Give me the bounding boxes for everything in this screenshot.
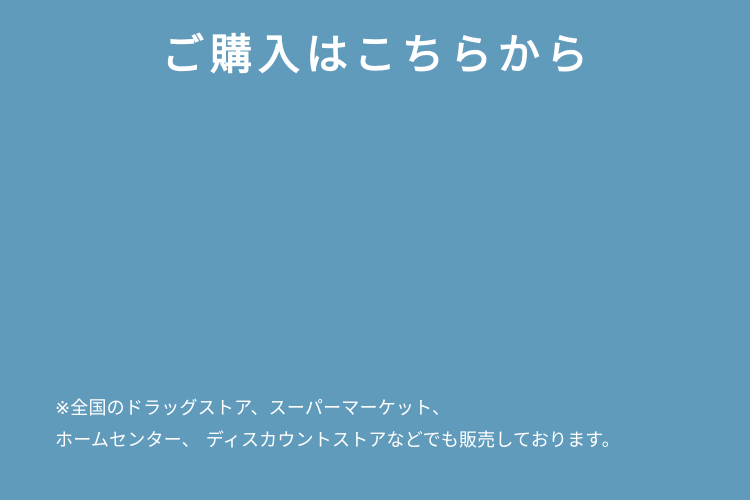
purchase-banner: ご購入はこちらから ※全国のドラッグストア、スーパーマーケット、 ホームセンター… [0,0,750,500]
footnote-line-1: ※全国のドラッグストア、スーパーマーケット、 [55,393,715,425]
footnote-line-2: ホームセンター、 ディスカウントストアなどでも販売しております。 [55,425,715,457]
footnote: ※全国のドラッグストア、スーパーマーケット、 ホームセンター、 ディスカウントス… [55,393,715,457]
page-title: ご購入はこちらから [156,30,594,80]
page-title-container: ご購入はこちらから [0,30,750,80]
retailer-links-area[interactable] [55,110,695,375]
